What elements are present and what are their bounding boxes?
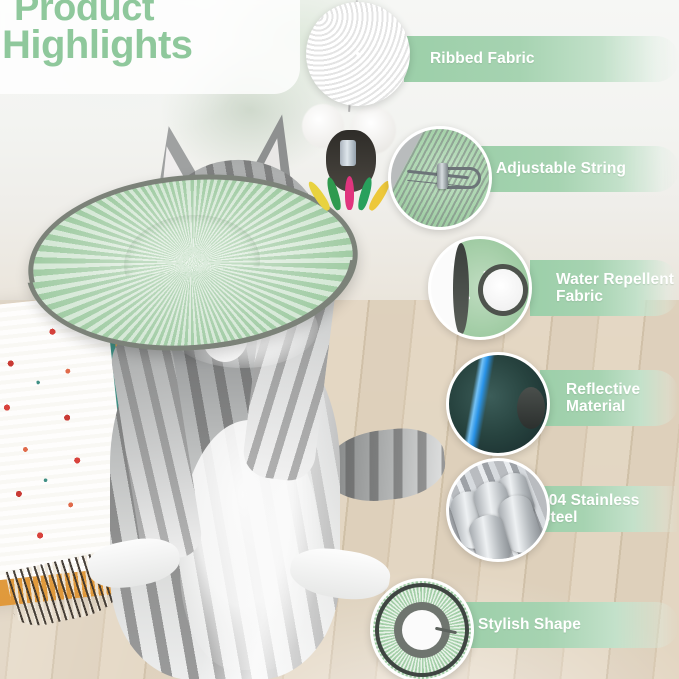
feature-label-stylish-shape: Stylish Shape — [478, 616, 581, 633]
feature-label-banner-stylish-shape: Stylish Shape — [452, 602, 679, 648]
stylish-shape-thumbnail — [370, 578, 474, 679]
infographic-canvas: Product Highlights Ribbed Fabric Adjusta… — [0, 0, 679, 679]
feature-stylish-shape: Stylish Shape — [0, 0, 679, 679]
